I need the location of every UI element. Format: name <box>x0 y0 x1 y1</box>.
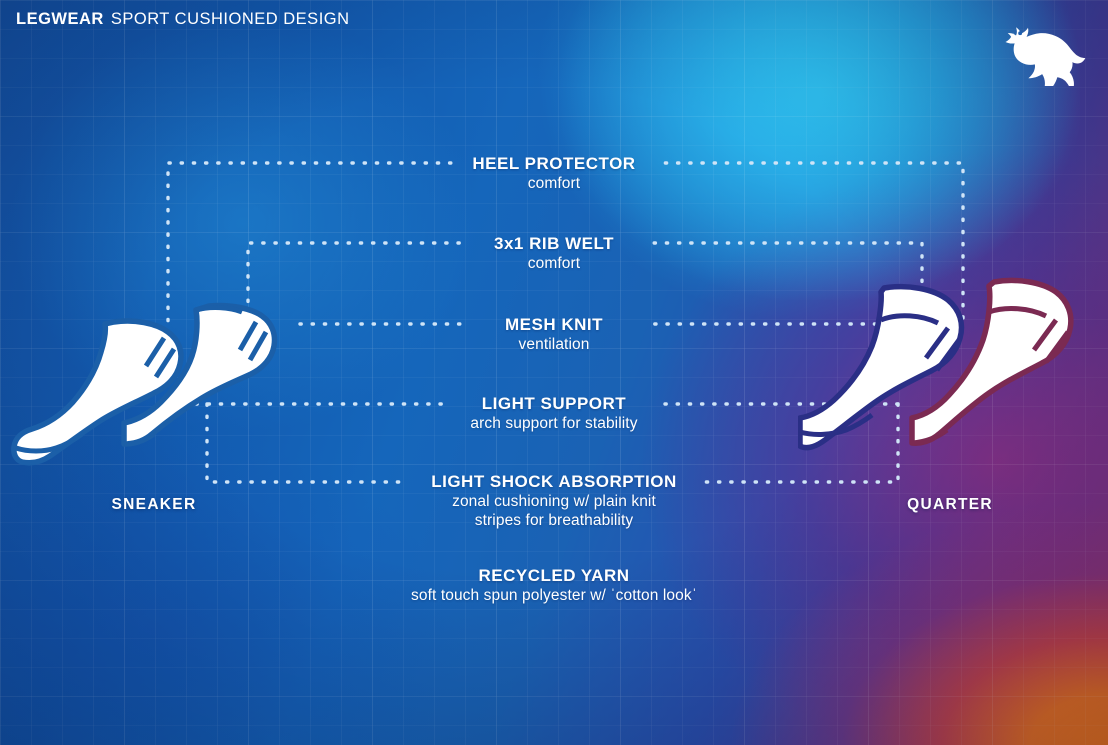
feature-subtitle: comfort <box>324 174 784 193</box>
feature-title: 3x1 RIB WELT <box>324 234 784 254</box>
feature-title: LIGHT SUPPORT <box>324 394 784 414</box>
feature-title: MESH KNIT <box>324 315 784 335</box>
feature-recycled-yarn: RECYCLED YARN soft touch spun polyester … <box>324 566 784 605</box>
title-rest: SPORT CUSHIONED DESIGN <box>111 10 350 29</box>
feature-shock-absorption: LIGHT SHOCK ABSORPTION zonal cushioning … <box>324 472 784 530</box>
feature-subtitle-line2: stripes for breathability <box>324 511 784 530</box>
feature-subtitle: soft touch spun polyester w/ ˈcotton loo… <box>324 586 784 605</box>
quarter-sock-illustration <box>798 268 1108 468</box>
puma-cat-logo <box>998 8 1090 86</box>
feature-title: HEEL PROTECTOR <box>324 154 784 174</box>
feature-light-support: LIGHT SUPPORT arch support for stability <box>324 394 784 433</box>
feature-subtitle: zonal cushioning w/ plain knit <box>324 492 784 511</box>
feature-heel-protector: HEEL PROTECTOR comfort <box>324 154 784 193</box>
feature-subtitle: ventilation <box>324 335 784 354</box>
product-label-quarter: QUARTER <box>820 496 1080 514</box>
feature-subtitle: comfort <box>324 254 784 273</box>
feature-title: RECYCLED YARN <box>324 566 784 586</box>
feature-mesh-knit: MESH KNIT ventilation <box>324 315 784 354</box>
product-label-sneaker: SNEAKER <box>24 496 284 514</box>
sneaker-sock-illustration <box>4 292 314 472</box>
page-title: LEGWEAR SPORT CUSHIONED DESIGN <box>16 10 350 29</box>
feature-title: LIGHT SHOCK ABSORPTION <box>324 472 784 492</box>
feature-subtitle: arch support for stability <box>324 414 784 433</box>
infographic-canvas: LEGWEAR SPORT CUSHIONED DESIGN <box>0 0 1108 745</box>
brand-word: LEGWEAR <box>16 10 104 29</box>
feature-rib-welt: 3x1 RIB WELT comfort <box>324 234 784 273</box>
sneaker-sock-front <box>14 321 181 463</box>
